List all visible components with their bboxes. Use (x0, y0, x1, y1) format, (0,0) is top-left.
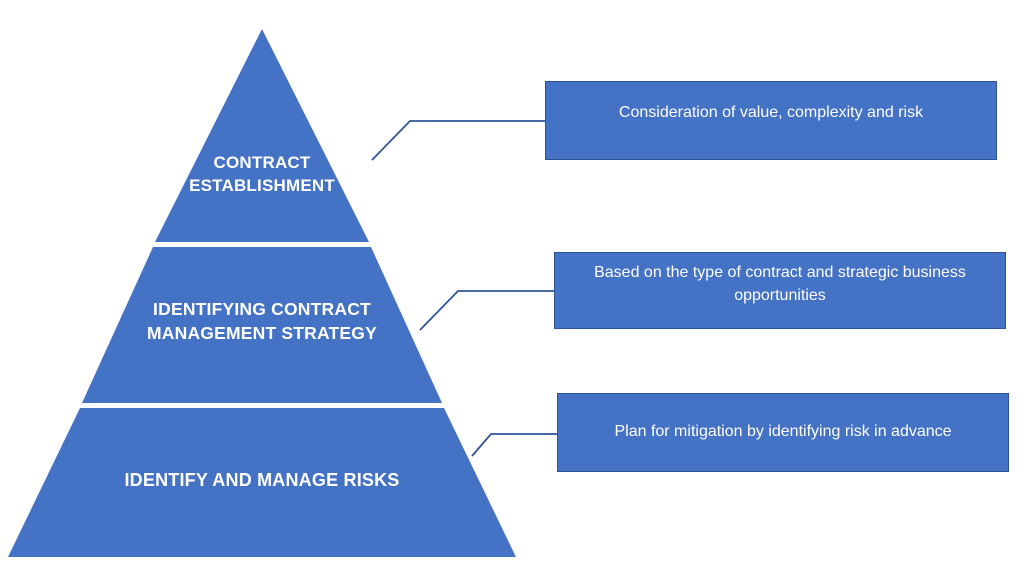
pyramid-tier-label-identifying-contract-management-strategy: IDENTIFYING CONTRACT MANAGEMENT STRATEGY (102, 298, 422, 345)
callout-box-consideration[interactable]: Consideration of value, complexity and r… (545, 81, 997, 160)
connector-line-identify-and-manage-risks (472, 434, 557, 456)
callout-box-contract-type[interactable]: Based on the type of contract and strate… (554, 252, 1006, 329)
pyramid-tier-label-identify-and-manage-risks: IDENTIFY AND MANAGE RISKS (62, 468, 462, 492)
pyramid-tier-label-contract-establishment: CONTRACT ESTABLISHMENT (132, 152, 392, 198)
callout-text-mitigation-plan: Plan for mitigation by identifying risk … (558, 420, 1008, 443)
connector-line-identifying-contract-management-strategy (420, 291, 554, 330)
callout-text-consideration: Consideration of value, complexity and r… (546, 101, 996, 124)
callout-text-contract-type: Based on the type of contract and strate… (555, 261, 1005, 307)
diagram-canvas: CONTRACT ESTABLISHMENT IDENTIFYING CONTR… (0, 0, 1027, 572)
connector-line-contract-establishment (372, 121, 545, 160)
callout-box-mitigation-plan[interactable]: Plan for mitigation by identifying risk … (557, 393, 1009, 472)
pyramid-tier-contract-establishment[interactable] (155, 29, 369, 242)
